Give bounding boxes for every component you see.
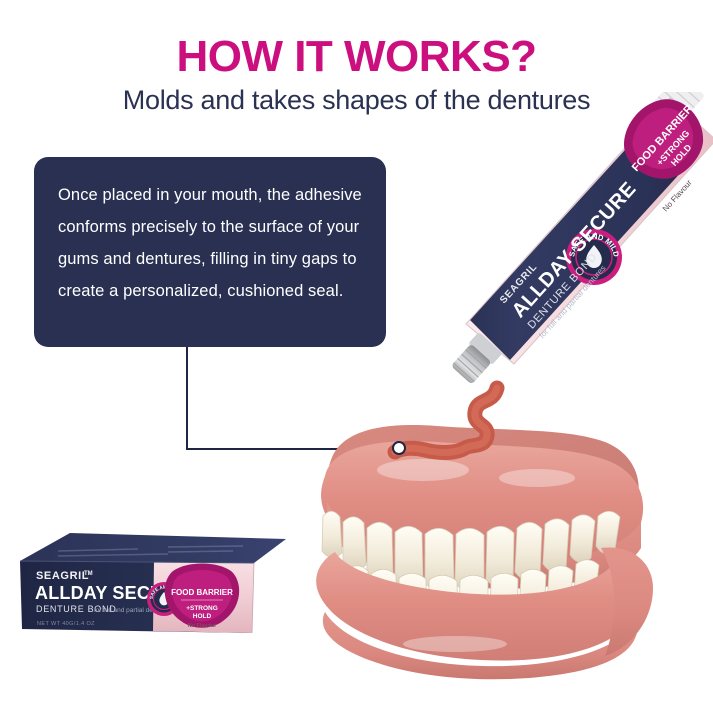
carton-shield-line2: +STRONG — [186, 605, 218, 612]
product-carton-box: SEAGRIL TM ALLDAY SECURE DENTURE BOND fo… — [18, 527, 290, 645]
callout-anchor-dot — [392, 441, 406, 455]
how-it-works-callout: Once placed in your mouth, the adhesive … — [34, 157, 386, 347]
carton-flavour-text: No Flavour — [188, 623, 218, 629]
carton-brand: SEAGRIL — [36, 570, 89, 582]
carton-trademark: TM — [84, 571, 93, 577]
carton-shield-line3: HOLD — [193, 613, 212, 620]
carton-net-weight: NET WT 40G/1.4 OZ — [37, 621, 95, 627]
toothpaste-tube: FOOD BARRIER +STRONG HOLD No Flavour SAF… — [418, 92, 713, 422]
page-title: HOW IT WORKS? — [0, 32, 713, 82]
callout-body-text: Once placed in your mouth, the adhesive … — [58, 179, 362, 307]
carton-shield-line1: FOOD BARRIER — [171, 588, 233, 597]
infographic-canvas: HOW IT WORKS? Molds and takes shapes of … — [0, 0, 713, 713]
